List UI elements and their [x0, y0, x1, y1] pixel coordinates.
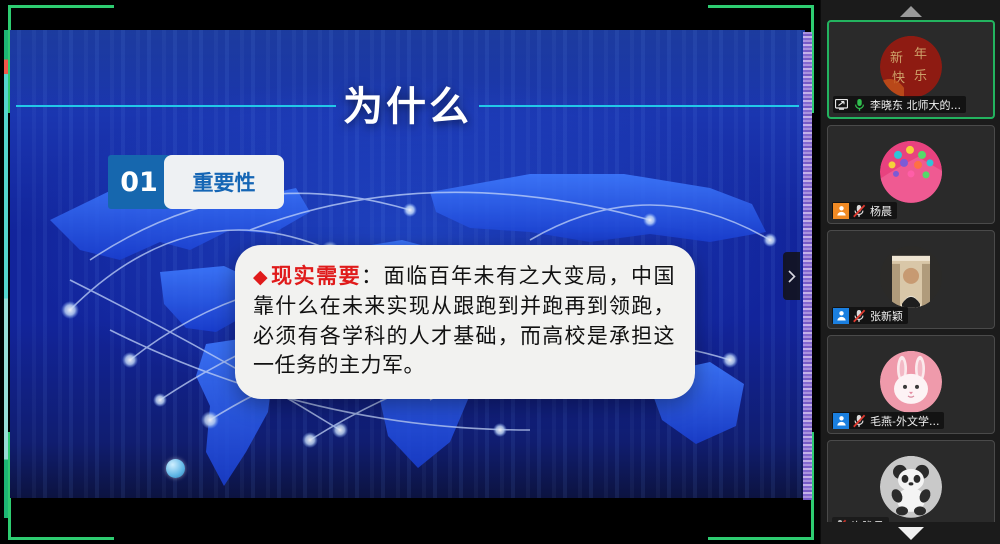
- avatar: [880, 350, 942, 412]
- meeting-screen-share-window: 为什么 01 重要性 ◆现实需要：面临百年未有之大变局，中国靠什么在未来实现从跟…: [0, 0, 1000, 544]
- participant-tile-list: 新年 快乐: [821, 20, 1000, 544]
- participant-name: 毛燕-外文学...: [870, 413, 939, 429]
- participant-name: 李晓东 北师大的...: [870, 97, 961, 113]
- avatar: [880, 245, 942, 307]
- site-watermark-icon: [166, 459, 185, 478]
- microphone-muted-icon: [852, 308, 867, 323]
- photo-person-avatar-icon: [880, 245, 942, 307]
- svg-text:年: 年: [914, 46, 927, 61]
- screen-share-icon: [834, 97, 849, 112]
- participant-name-bar: 杨晨: [832, 202, 897, 219]
- slide-body-highlight: 现实需要: [271, 263, 361, 288]
- slide-edge-strip: [4, 30, 8, 518]
- avatar: 新年 快乐: [880, 35, 942, 97]
- slide-title: 为什么: [10, 74, 805, 132]
- svg-text:新: 新: [890, 49, 903, 65]
- microphone-muted-icon: [852, 413, 867, 428]
- diamond-bullet-icon: ◆: [253, 266, 269, 288]
- section-chip-row: 01 重要性: [108, 155, 284, 209]
- participant-tile[interactable]: 张新颖: [827, 230, 995, 329]
- participant-tile[interactable]: 杨晨: [827, 125, 995, 224]
- slide-text-card: ◆现实需要：面临百年未有之大变局，中国靠什么在未来实现从跟跑到并跑再到领跑，必须…: [235, 245, 695, 399]
- participant-name-bar: 毛燕-外文学...: [832, 412, 944, 429]
- participant-badge-icon: [833, 413, 849, 429]
- microphone-on-icon: [852, 97, 867, 112]
- presentation-slide: 为什么 01 重要性 ◆现实需要：面临百年未有之大变局，中国靠什么在未来实现从跟…: [10, 30, 805, 498]
- shared-screen-stage[interactable]: 为什么 01 重要性 ◆现实需要：面临百年未有之大变局，中国靠什么在未来实现从跟…: [0, 0, 820, 544]
- participant-tile[interactable]: 毛燕-外文学...: [827, 335, 995, 434]
- participant-name-bar: 张新颖: [832, 307, 908, 324]
- slide-body-text: ◆现实需要：面临百年未有之大变局，中国靠什么在未来实现从跟跑到并跑再到领跑，必须…: [253, 261, 675, 381]
- rail-scroll-up-button[interactable]: [821, 0, 1000, 22]
- participant-name: 杨晨: [870, 203, 892, 219]
- participant-badge-icon: [833, 308, 849, 324]
- microphone-muted-icon: [852, 203, 867, 218]
- participant-name-bar: 李晓东 北师大的...: [833, 96, 966, 113]
- avatar: [880, 140, 942, 202]
- section-number: 01: [108, 155, 170, 209]
- pink-rabbit-avatar-icon: [880, 350, 942, 412]
- rail-scroll-down-button[interactable]: [821, 522, 1000, 544]
- participant-tile[interactable]: 新年 快乐: [827, 20, 995, 119]
- slide-scroll-strip[interactable]: [803, 32, 812, 500]
- host-badge-icon: [833, 203, 849, 219]
- chevron-right-icon: [788, 270, 796, 283]
- participant-rail: 新年 快乐: [820, 0, 1000, 544]
- triangle-down-icon: [898, 527, 924, 540]
- collapse-panel-button[interactable]: [783, 252, 800, 300]
- section-label: 重要性: [164, 155, 284, 209]
- avatar: [880, 455, 942, 517]
- panda-avatar-icon: [880, 455, 942, 517]
- participant-name: 张新颖: [870, 308, 903, 324]
- svg-text:乐: 乐: [914, 68, 927, 83]
- triangle-up-icon: [900, 6, 922, 17]
- red-calligraphy-avatar-icon: 新年 快乐: [880, 35, 942, 97]
- confetti-avatar-icon: [880, 140, 942, 202]
